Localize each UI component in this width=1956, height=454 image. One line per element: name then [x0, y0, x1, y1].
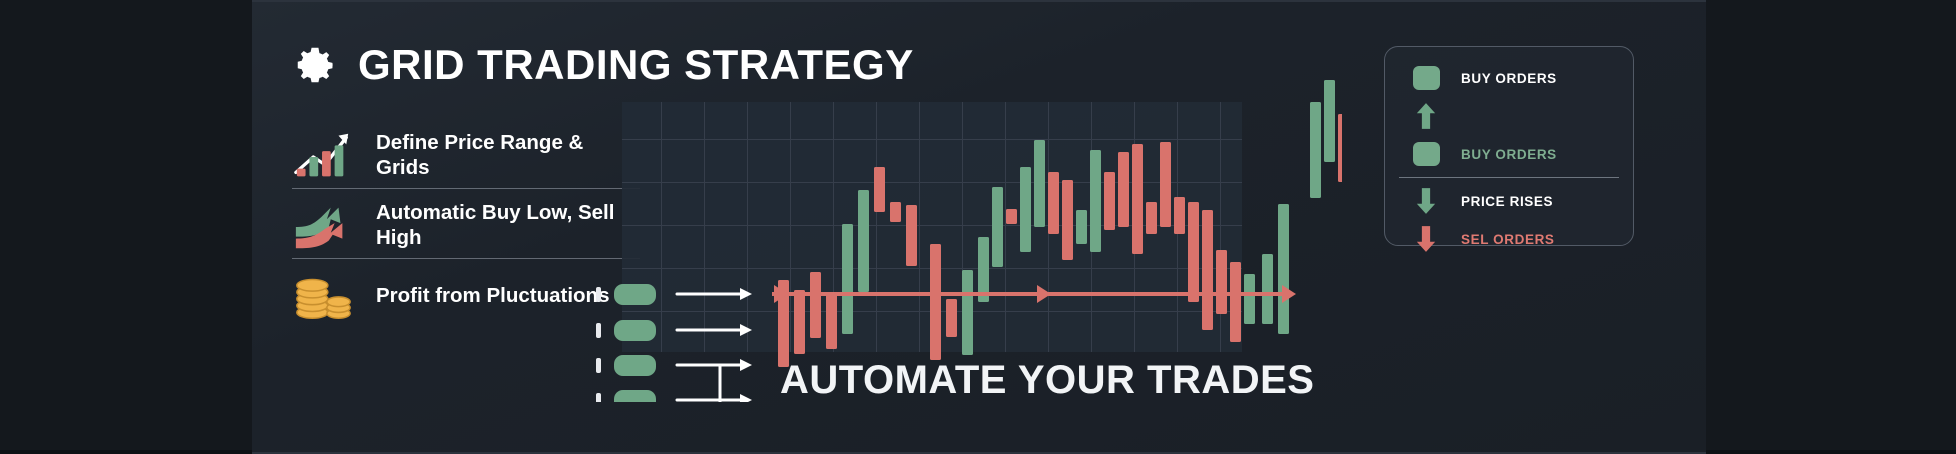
- coin-stack-icon: [292, 264, 354, 326]
- feature-item-0: Define Price Range & Grids: [292, 124, 642, 186]
- legend-item-0[interactable]: BUY ORDERS: [1385, 59, 1633, 97]
- growth-bar-chart-icon: [292, 124, 354, 186]
- feature-item-1: Automatic Buy Low, Sell High: [292, 194, 642, 256]
- green-square-icon: [1411, 63, 1441, 93]
- feature-label-2: Profit from Pluctuations: [376, 283, 609, 308]
- legend-label-0: BUY ORDERS: [1461, 71, 1557, 86]
- legend-item-2[interactable]: BUY ORDERS: [1385, 135, 1633, 173]
- letterbox-right: [1706, 0, 1956, 450]
- legend-divider: [1399, 177, 1619, 178]
- up-arrow-icon: [1411, 101, 1441, 131]
- feature-divider-0: [292, 188, 640, 189]
- green-square-icon: [1411, 139, 1441, 169]
- down-arrow-green-icon: [1411, 186, 1441, 216]
- chart-caption: AUTOMATE YOUR TRADES: [780, 358, 1314, 403]
- legend-label-3: PRICE RISES: [1461, 194, 1553, 209]
- two-arrows-icon: [292, 194, 354, 256]
- legend-label-2: BUY ORDERS: [1461, 147, 1557, 162]
- grid-order-markers: [592, 62, 1342, 402]
- down-arrow-red-icon: [1411, 224, 1441, 254]
- legend-item-3[interactable]: PRICE RISES: [1385, 182, 1633, 220]
- infographic-root: GRID TRADING STRATEGY Define Price Range…: [0, 0, 1956, 450]
- content-panel: GRID TRADING STRATEGY Define Price Range…: [252, 0, 1706, 454]
- legend-item-4[interactable]: SEL ORDERS: [1385, 220, 1633, 258]
- legend-panel: BUY ORDERS BUY ORDERS: [1384, 46, 1634, 246]
- feature-divider-1: [292, 258, 640, 259]
- letterbox-left: [0, 0, 252, 450]
- legend-label-4: SEL ORDERS: [1461, 232, 1555, 247]
- candlestick-chart: AUTOMATE YOUR TRADES: [592, 62, 1342, 402]
- legend-item-1[interactable]: [1385, 97, 1633, 135]
- feature-item-2: Profit from Pluctuations: [292, 264, 642, 326]
- gear-icon: [292, 42, 338, 88]
